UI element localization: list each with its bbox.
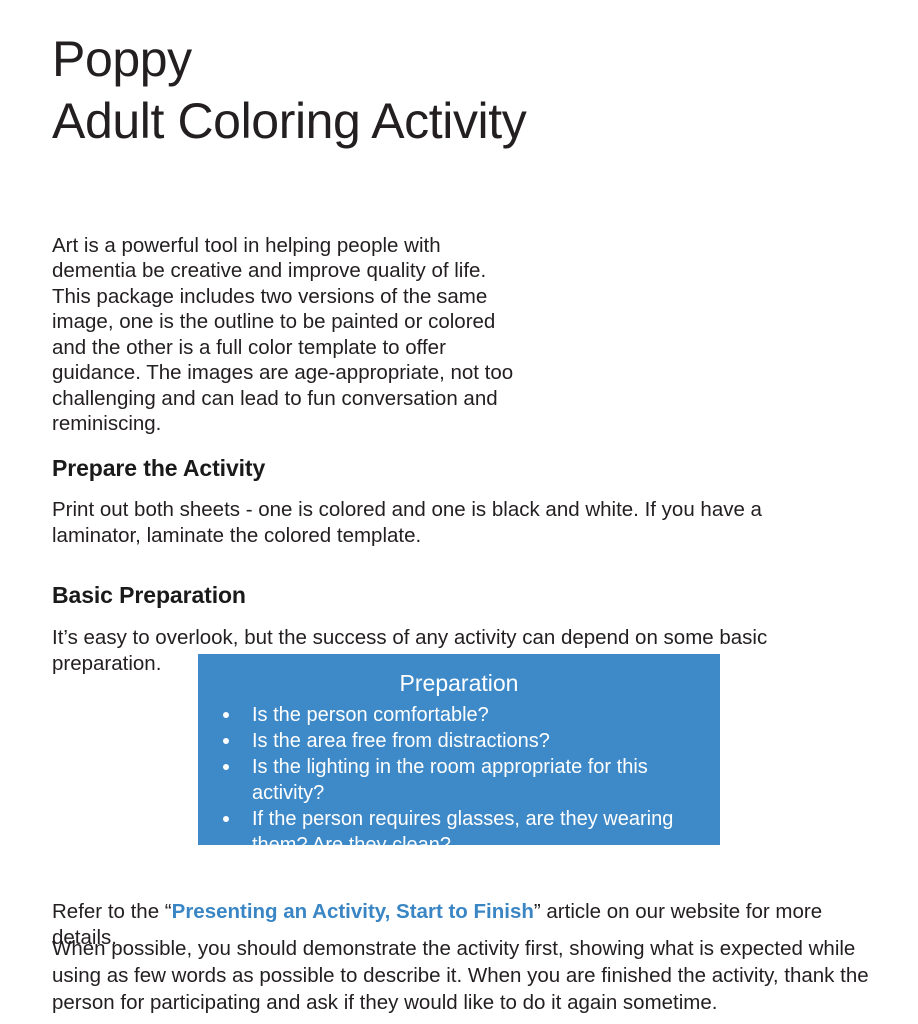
list-item-label: Is the person comfortable? xyxy=(252,704,489,726)
preparation-checklist: Is the person comfortable? Is the area f… xyxy=(198,702,720,858)
list-item: Is the area free from distractions? xyxy=(212,728,710,754)
list-item: If the person requires glasses, are they… xyxy=(212,806,710,858)
title-line-secondary: Adult Coloring Activity xyxy=(52,90,752,152)
intro-paragraph: Art is a powerful tool in helping people… xyxy=(52,233,522,437)
list-item: Is the lighting in the room appropriate … xyxy=(212,754,710,806)
list-item-label: Is the area free from distractions? xyxy=(252,730,550,752)
document-page: Poppy Adult Coloring Activity Art is a p… xyxy=(0,0,918,1024)
list-item-label: If the person requires glasses, are they… xyxy=(252,808,673,856)
list-item: Is the person comfortable? xyxy=(212,702,710,728)
preparation-callout-box: Preparation Is the person comfortable? I… xyxy=(198,654,720,845)
title-line-primary: Poppy xyxy=(52,28,752,90)
section-heading-basic-preparation: Basic Preparation xyxy=(52,581,246,609)
bullet-dot-icon xyxy=(223,816,229,822)
bullet-dot-icon xyxy=(223,738,229,744)
refer-prefix-text: Refer to the “ xyxy=(52,900,172,923)
section-heading-prepare-the-activity: Prepare the Activity xyxy=(52,454,265,482)
bullet-dot-icon xyxy=(223,712,229,718)
link-presenting-an-activity[interactable]: Presenting an Activity, Start to Finish xyxy=(172,900,534,923)
page-title: Poppy Adult Coloring Activity xyxy=(52,28,752,152)
paragraph-prepare-body: Print out both sheets - one is colored a… xyxy=(52,497,842,549)
bullet-dot-icon xyxy=(223,764,229,770)
preparation-callout-title: Preparation xyxy=(198,654,720,698)
paragraph-closing: When possible, you should demonstrate th… xyxy=(52,935,880,1016)
list-item-label: Is the lighting in the room appropriate … xyxy=(252,756,648,804)
